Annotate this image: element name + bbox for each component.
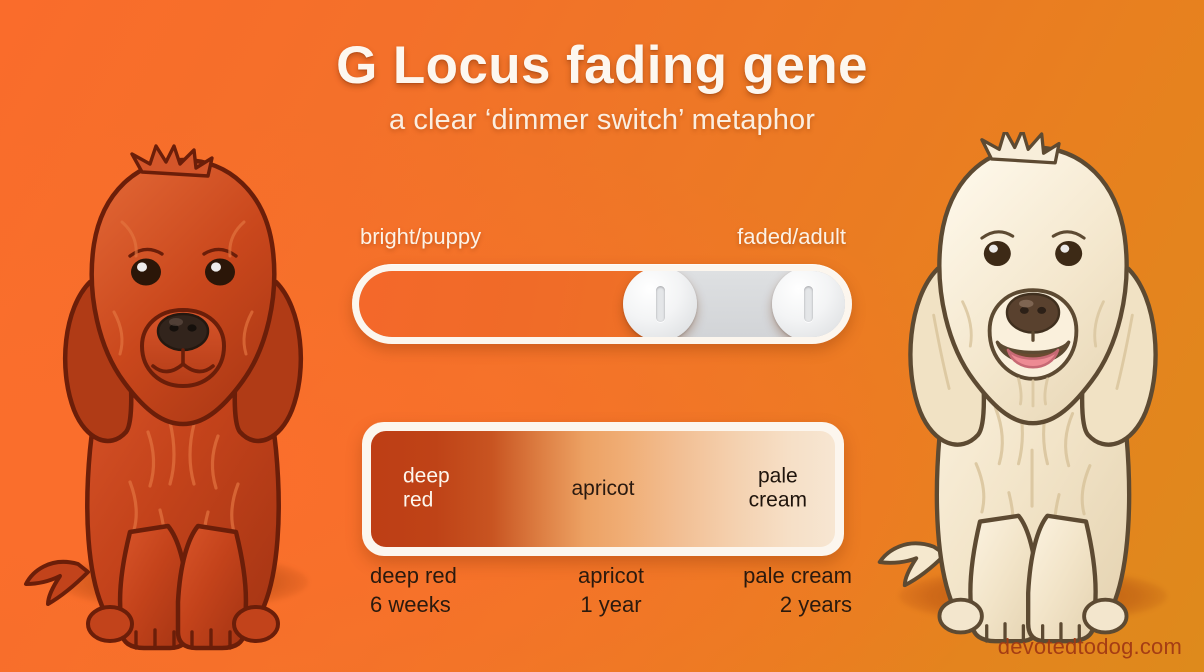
dog-illustration-right <box>868 112 1198 672</box>
caption-name: pale cream <box>732 562 852 591</box>
caption-name: deep red <box>370 562 490 591</box>
swatch-label-apricot: apricot <box>571 477 634 501</box>
slider-track[interactable] <box>352 264 852 344</box>
slider-fill <box>359 271 660 337</box>
slider-knob-secondary[interactable] <box>772 271 845 337</box>
swatch-label-deep-red: deep red <box>403 465 450 514</box>
dog-illustration-left <box>18 112 348 672</box>
site-watermark: devotedtodog.com <box>998 634 1182 660</box>
slider-label-row: bright/puppy faded/adult <box>352 224 852 250</box>
swatch-label-pale-cream: pale cream <box>749 465 807 514</box>
page-title: G Locus fading gene <box>0 38 1204 94</box>
slider-label-left: bright/puppy <box>360 224 481 250</box>
red-puppy-icon <box>18 132 348 672</box>
caption-apricot: apricot 1 year <box>551 562 671 619</box>
coat-color-gradient-bar: deep red apricot pale cream <box>371 431 835 547</box>
caption-deep-red: deep red 6 weeks <box>370 562 490 619</box>
slider-track-inner[interactable] <box>359 271 845 337</box>
caption-row: deep red 6 weeks apricot 1 year pale cre… <box>362 562 854 619</box>
dimmer-slider-panel: bright/puppy faded/adult <box>352 224 852 344</box>
caption-pale-cream: pale cream 2 years <box>732 562 852 619</box>
slider-knob-primary[interactable] <box>623 271 697 337</box>
coat-color-gradient-panel: deep red apricot pale cream <box>362 422 844 556</box>
cream-dog-icon <box>868 132 1198 672</box>
caption-age: 1 year <box>551 591 671 620</box>
caption-name: apricot <box>551 562 671 591</box>
caption-age: 2 years <box>732 591 852 620</box>
infographic-canvas: G Locus fading gene a clear ‘dimmer swit… <box>0 0 1204 672</box>
caption-age: 6 weeks <box>370 591 490 620</box>
slider-label-right: faded/adult <box>737 224 846 250</box>
